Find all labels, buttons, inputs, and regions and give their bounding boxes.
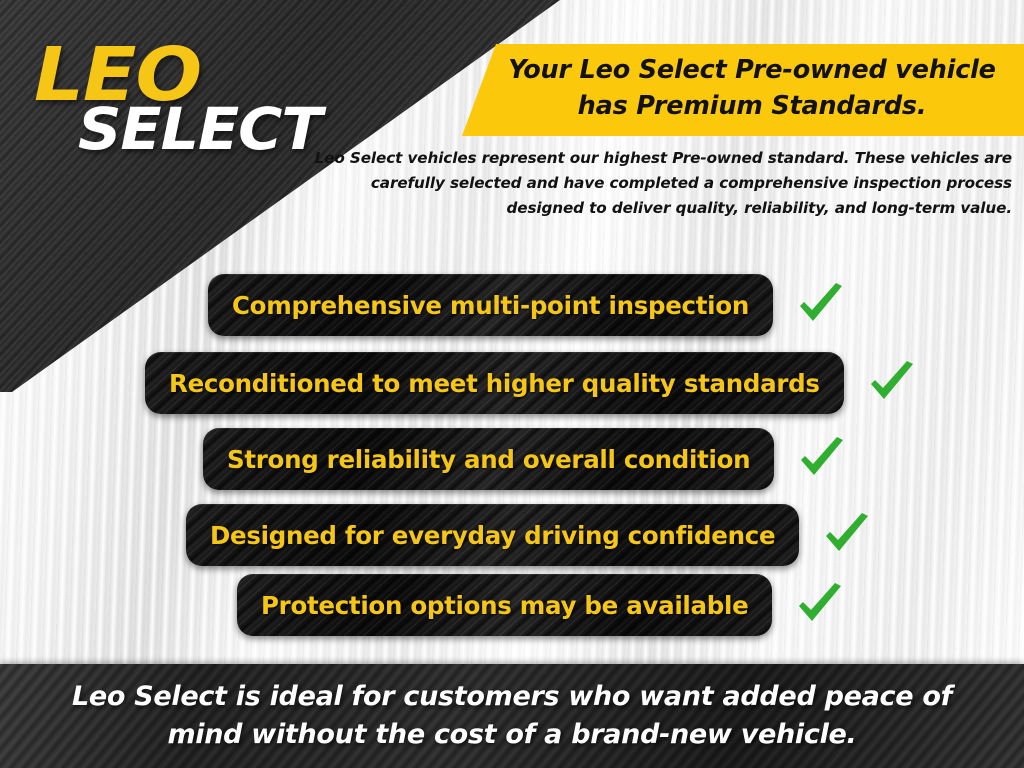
feature-row: Protection options may be available — [237, 572, 846, 638]
feature-row: Designed for everyday driving confidence — [186, 502, 873, 568]
feature-label: Strong reliability and overall condition — [227, 445, 750, 474]
headline-text: Your Leo Select Pre-owned vehicle has Pr… — [488, 52, 1016, 124]
feature-pill: Reconditioned to meet higher quality sta… — [145, 352, 844, 414]
feature-label: Comprehensive multi-point inspection — [232, 291, 749, 320]
check-icon — [866, 359, 918, 407]
feature-label: Designed for everyday driving confidence — [210, 521, 775, 550]
footer-band: Leo Select is ideal for customers who wa… — [0, 664, 1024, 768]
feature-pill: Protection options may be available — [237, 574, 772, 636]
check-icon — [796, 435, 848, 483]
feature-row: Strong reliability and overall condition — [203, 426, 848, 492]
feature-pill: Designed for everyday driving confidence — [186, 504, 799, 566]
check-icon — [794, 581, 846, 629]
feature-label: Reconditioned to meet higher quality sta… — [169, 369, 820, 398]
feature-row: Comprehensive multi-point inspection — [208, 272, 847, 338]
check-icon — [821, 511, 873, 559]
intro-paragraph: Leo Select vehicles represent our highes… — [312, 146, 1012, 221]
leo-select-poster: LEO SELECT Your Leo Select Pre-owned veh… — [0, 0, 1024, 768]
feature-pill: Comprehensive multi-point inspection — [208, 274, 773, 336]
footer-text: Leo Select is ideal for customers who wa… — [52, 678, 972, 755]
feature-label: Protection options may be available — [261, 591, 748, 620]
check-icon — [795, 281, 847, 329]
feature-row: Reconditioned to meet higher quality sta… — [145, 350, 918, 416]
leo-select-logo: LEO SELECT — [34, 38, 334, 168]
logo-word-select: SELECT — [78, 100, 321, 158]
feature-pill: Strong reliability and overall condition — [203, 428, 774, 490]
